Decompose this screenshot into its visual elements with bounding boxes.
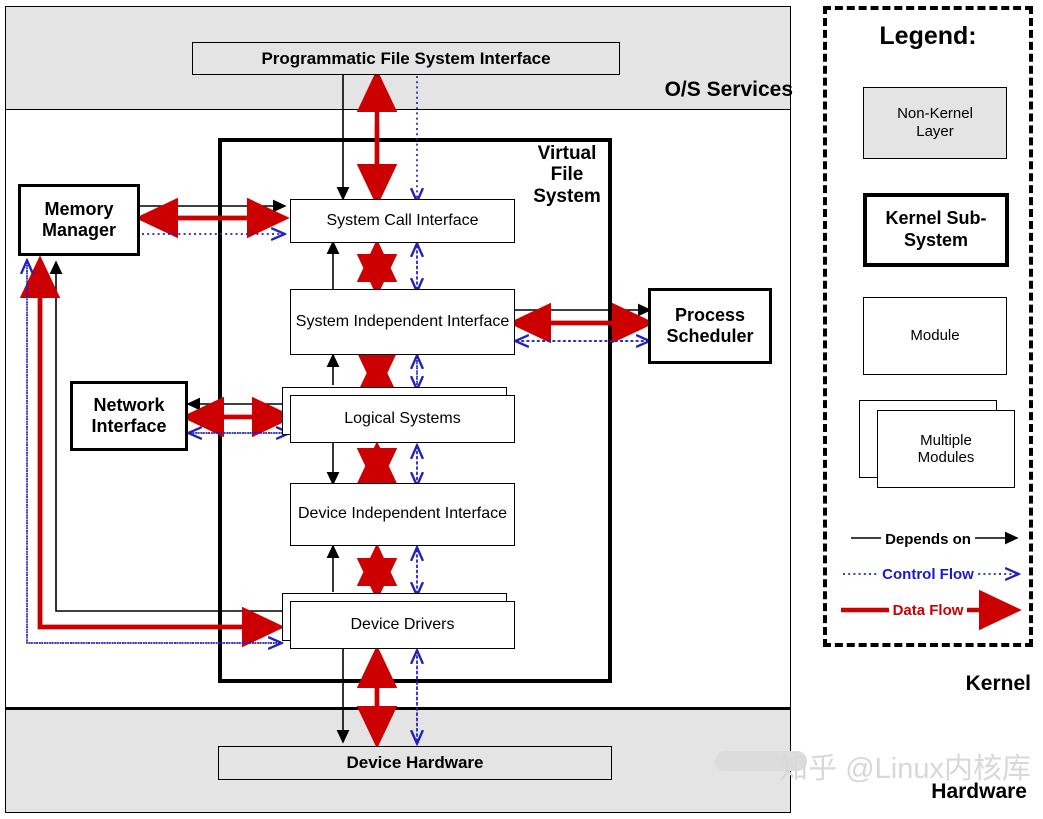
stack-front-sheet: Device Drivers <box>290 601 515 649</box>
node-label: Programmatic File System Interface <box>257 49 554 69</box>
legend-flow-label: Depends on <box>881 531 975 548</box>
stack-front-sheet: Logical Systems <box>290 395 515 443</box>
legend-item-label: Module <box>910 327 959 345</box>
node-logical-systems[interactable]: Logical Systems <box>282 387 515 443</box>
node-label: System Independent Interface <box>292 313 513 331</box>
node-label: Device Independent Interface <box>294 505 511 523</box>
virtual-file-system-label: VirtualFileSystem <box>524 143 610 207</box>
legend-flow-depends-on: Depends on <box>827 531 1029 548</box>
node-device-hardware[interactable]: Device Hardware <box>218 746 612 780</box>
node-label: Logical Systems <box>340 410 465 428</box>
node-label: MemoryManager <box>38 199 120 240</box>
layer-label-kernel: Kernel <box>966 672 1031 696</box>
node-device-independent-interface[interactable]: Device Independent Interface <box>290 483 515 546</box>
legend-flow-control-flow: Control Flow <box>827 566 1029 583</box>
stack-front-sheet: MultipleModules <box>877 410 1015 488</box>
layer-label-os-services: O/S Services <box>665 78 793 102</box>
node-process-scheduler[interactable]: ProcessScheduler <box>648 288 772 364</box>
node-label: Device Hardware <box>342 753 487 773</box>
node-programmatic-file-system-interface[interactable]: Programmatic File System Interface <box>192 42 620 75</box>
legend-item-kernel-sub-system: Kernel Sub-System <box>863 193 1009 267</box>
legend-item-multiple-modules: MultipleModules <box>859 400 1015 488</box>
legend-flow-label: Data Flow <box>889 602 968 619</box>
legend-item-label: MultipleModules <box>918 432 975 467</box>
node-memory-manager[interactable]: MemoryManager <box>18 184 140 256</box>
legend-flow-data-flow: Data Flow <box>827 602 1029 619</box>
legend-item-non-kernel-layer: Non-KernelLayer <box>863 87 1007 159</box>
node-label: Device Drivers <box>346 616 458 634</box>
legend-item-label: Kernel Sub-System <box>885 208 986 251</box>
legend-flow-label: Control Flow <box>878 566 978 583</box>
legend-panel: Legend: Non-KernelLayer Kernel Sub-Syste… <box>823 6 1033 647</box>
node-device-drivers[interactable]: Device Drivers <box>282 593 515 649</box>
node-network-interface[interactable]: NetworkInterface <box>70 381 188 451</box>
node-label: System Call Interface <box>322 212 482 230</box>
legend-title: Legend: <box>827 22 1029 51</box>
diagram-canvas: O/S Services Kernel Hardware VirtualFile… <box>0 0 1043 819</box>
legend-item-label: Non-KernelLayer <box>897 105 973 141</box>
legend-item-module: Module <box>863 297 1007 375</box>
node-system-call-interface[interactable]: System Call Interface <box>290 199 515 243</box>
node-system-independent-interface[interactable]: System Independent Interface <box>290 289 515 355</box>
node-label: NetworkInterface <box>87 395 170 436</box>
node-label: ProcessScheduler <box>662 305 757 346</box>
watermark-text: 知乎 @Linux内核库 <box>779 745 1031 787</box>
